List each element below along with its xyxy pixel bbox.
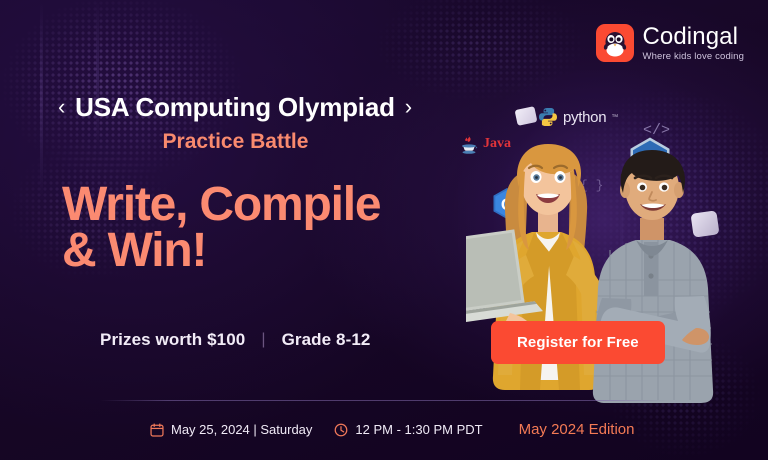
offer-details-row: Prizes worth $100 | Grade 8-12 [100,330,370,350]
grade-text: Grade 8-12 [282,330,371,350]
clock-icon [334,423,348,437]
footer-time-label: 12 PM - 1:30 PM PDT [355,422,482,437]
codingal-penguin-mark [596,24,634,62]
event-footer: May 25, 2024 | Saturday 12 PM - 1:30 PM … [150,421,634,438]
brand-tagline: Where kids love coding [642,51,744,62]
brand-logo[interactable]: Codingal Where kids love coding [596,24,744,62]
student-boy-photo [578,130,728,420]
main-headline: Write, Compile & Win! [62,182,482,274]
footer-date: May 25, 2024 | Saturday [150,422,312,437]
brand-name: Codingal [642,24,744,49]
penguin-icon [602,29,628,57]
footer-date-label: May 25, 2024 | Saturday [171,422,312,437]
footer-time: 12 PM - 1:30 PM PDT [334,422,482,437]
calendar-icon [150,423,164,437]
event-title-row: ‹ USA Computing Olympiad › [58,92,478,123]
chevron-right-icon: › [405,96,412,118]
footer-edition: May 2024 Edition [519,421,635,438]
promo-banner: </> { } </> { } Java python ™ [0,0,768,460]
event-heading-group: ‹ USA Computing Olympiad › Practice Batt… [58,92,478,154]
chevron-left-icon: ‹ [58,96,65,118]
event-title: USA Computing Olympiad [75,92,395,123]
meta-separator: | [261,331,265,349]
headline-line-2: & Win! [62,228,482,274]
headline-line-1: Write, Compile [62,178,380,231]
brand-text: Codingal Where kids love coding [642,24,744,61]
horizontal-divider [100,400,670,401]
hero-image: </> { } </> { } Java python ™ [438,0,768,460]
prizes-text: Prizes worth $100 [100,330,245,350]
decor-bar-1 [40,0,43,200]
register-for-free-button[interactable]: Register for Free [491,321,665,364]
event-subtitle: Practice Battle [58,130,413,154]
